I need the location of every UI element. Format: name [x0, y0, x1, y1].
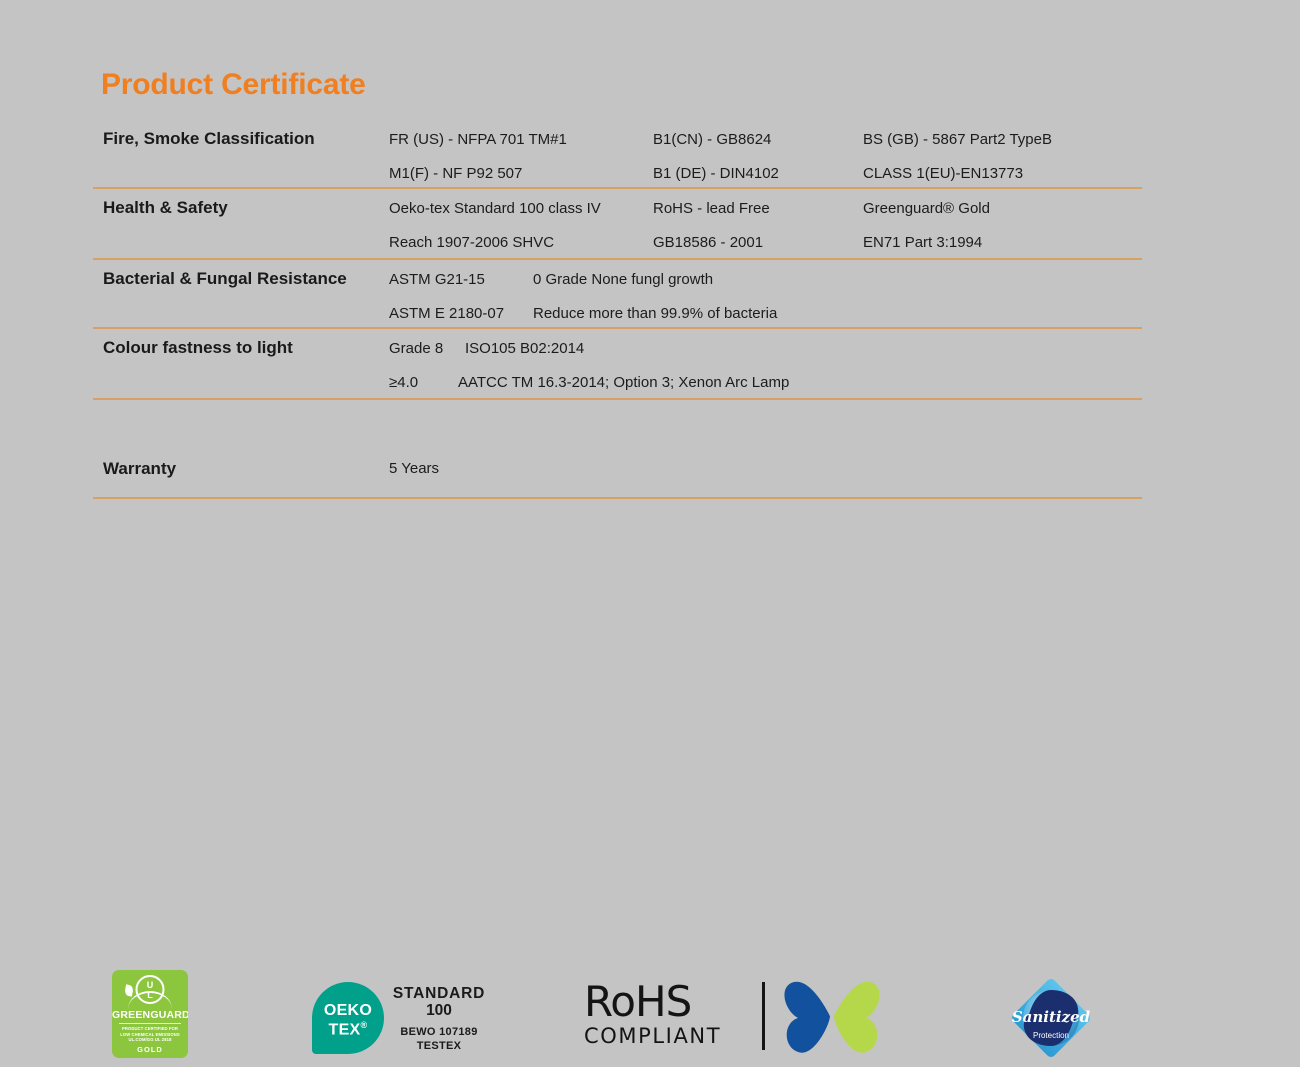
cell-fire-l1-c2: B1(CN) - GB8624 [653, 131, 771, 148]
oeko-tex-standard-100-logo: OEKO TEX® STANDARD 100 BEWO 107189 TESTE… [312, 982, 492, 1054]
oeko-standard-label: STANDARD [386, 985, 492, 1002]
table-row: Fire, Smoke Classification FR (US) - NFP… [93, 120, 1142, 189]
sanitized-brand-text: Sanitized [1012, 1008, 1091, 1026]
cell-health-l1-c1: Oeko-tex Standard 100 class IV [389, 200, 601, 217]
cell-colour-l1-c2: ISO105 B02:2014 [465, 340, 584, 357]
cell-colour-l2-c1: ≥4.0 [389, 374, 418, 391]
butterfly-icon [782, 974, 882, 1058]
greenguard-gold-logo: UL GREENGUARD PRODUCT CERTIFIED FOR LOW … [112, 970, 188, 1058]
arc-icon [128, 991, 172, 1009]
row-label-warranty: Warranty [103, 459, 176, 479]
greenguard-level: GOLD [112, 1045, 188, 1054]
table-row: Bacterial & Fungal Resistance ASTM G21-1… [93, 260, 1142, 329]
tex-word: TEX® [312, 1020, 384, 1039]
cell-bacterial-l1-c1: ASTM G21-15 [389, 271, 485, 288]
greenguard-divider [119, 1023, 181, 1024]
cell-bacterial-l2-c2: Reduce more than 99.9% of bacteria [533, 305, 777, 322]
cell-fire-l1-c1: FR (US) - NFPA 701 TM#1 [389, 131, 567, 148]
cell-health-l1-c2: RoHS - lead Free [653, 200, 770, 217]
greenguard-fine-print: PRODUCT CERTIFIED FOR LOW CHEMICAL EMISS… [117, 1026, 183, 1043]
table-row: Health & Safety Oeko-tex Standard 100 cl… [93, 189, 1142, 260]
rohs-divider [762, 982, 765, 1050]
butterfly-logo [782, 974, 882, 1058]
cell-health-l2-c3: EN71 Part 3:1994 [863, 234, 982, 251]
sanitized-icon: Sanitized Protection [1002, 974, 1100, 1062]
table-row: Colour fastness to light Grade 8 ISO105 … [93, 329, 1142, 400]
cell-warranty-value: 5 Years [389, 460, 439, 477]
page-title: Product Certificate [101, 68, 366, 102]
oeko-tex-droplet-icon: OEKO TEX® [312, 982, 384, 1054]
oeko-word: OEKO [312, 1002, 384, 1020]
cell-fire-l1-c3: BS (GB) - 5867 Part2 TypeB [863, 131, 1052, 148]
oeko-institute: TESTEX [386, 1039, 492, 1053]
certification-logo-strip: UL GREENGUARD PRODUCT CERTIFIED FOR LOW … [0, 482, 1300, 592]
row-label-bacterial-fungal: Bacterial & Fungal Resistance [103, 269, 347, 289]
greenguard-name: GREENGUARD [112, 1009, 188, 1021]
cell-colour-l2-c2: AATCC TM 16.3-2014; Option 3; Xenon Arc … [458, 374, 789, 391]
cell-fire-l2-c2: B1 (DE) - DIN4102 [653, 165, 779, 182]
rohs-wordmark: RoHS [584, 980, 754, 1024]
leaf-icon [124, 984, 134, 996]
oeko-tex-text-block: STANDARD 100 BEWO 107189 TESTEX [386, 985, 492, 1053]
cell-bacterial-l2-c1: ASTM E 2180-07 [389, 305, 504, 322]
cell-bacterial-l1-c2: 0 Grade None fungl growth [533, 271, 713, 288]
product-certificate-page: Product Certificate Fire, Smoke Classifi… [0, 0, 1300, 600]
table-spacer [93, 400, 1142, 450]
oeko-standard-number: 100 [386, 1002, 492, 1019]
sanitized-protection-logo: Sanitized Protection [1002, 974, 1100, 1062]
oeko-licence-number: BEWO 107189 [386, 1025, 492, 1039]
cell-fire-l2-c1: M1(F) - NF P92 507 [389, 165, 522, 182]
cell-health-l2-c1: Reach 1907-2006 SHVC [389, 234, 554, 251]
row-label-colour-fastness: Colour fastness to light [103, 338, 293, 358]
row-label-fire-smoke: Fire, Smoke Classification [103, 129, 315, 149]
cell-colour-l1-c1: Grade 8 [389, 340, 443, 357]
row-label-health-safety: Health & Safety [103, 198, 228, 218]
rohs-compliant-label: COMPLIANT [584, 1024, 754, 1048]
cell-health-l2-c2: GB18586 - 2001 [653, 234, 763, 251]
certificate-table: Fire, Smoke Classification FR (US) - NFP… [93, 120, 1142, 499]
cell-fire-l2-c3: CLASS 1(EU)-EN13773 [863, 165, 1023, 182]
cell-health-l1-c3: Greenguard® Gold [863, 200, 990, 217]
rohs-compliant-logo: RoHS COMPLIANT [584, 980, 754, 1048]
sanitized-subtitle-text: Protection [1033, 1031, 1069, 1040]
